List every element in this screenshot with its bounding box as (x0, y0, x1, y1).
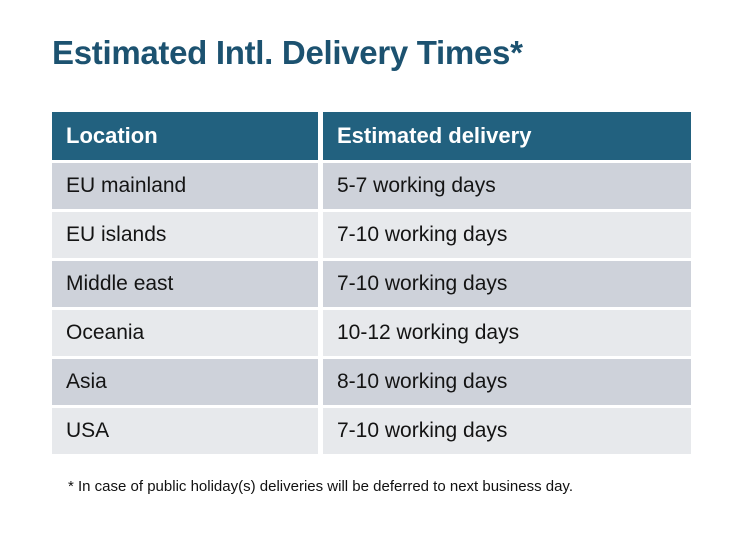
table-row: Oceania 10-12 working days (52, 310, 691, 356)
cell-location: Asia (52, 359, 318, 405)
delivery-times-page: Estimated Intl. Delivery Times* Location… (0, 0, 745, 536)
column-header-estimated-delivery: Estimated delivery (323, 112, 691, 160)
cell-delivery: 8-10 working days (323, 359, 691, 405)
cell-location: USA (52, 408, 318, 454)
cell-location: Oceania (52, 310, 318, 356)
cell-delivery: 7-10 working days (323, 212, 691, 258)
footnote-public-holiday: * In case of public holiday(s) deliverie… (68, 478, 573, 495)
cell-location: EU mainland (52, 163, 318, 209)
column-header-location: Location (52, 112, 318, 160)
table-row: EU islands 7-10 working days (52, 212, 691, 258)
cell-location: Middle east (52, 261, 318, 307)
table-row: Middle east 7-10 working days (52, 261, 691, 307)
cell-delivery: 5-7 working days (323, 163, 691, 209)
cell-location: EU islands (52, 212, 318, 258)
cell-delivery: 7-10 working days (323, 261, 691, 307)
estimated-delivery-times-table: Location Estimated delivery EU mainland … (52, 112, 691, 457)
table-header-row: Location Estimated delivery (52, 112, 691, 160)
table-row: Asia 8-10 working days (52, 359, 691, 405)
cell-delivery: 10-12 working days (323, 310, 691, 356)
table-row: EU mainland 5-7 working days (52, 163, 691, 209)
page-title: Estimated Intl. Delivery Times* (52, 34, 523, 72)
cell-delivery: 7-10 working days (323, 408, 691, 454)
table-row: USA 7-10 working days (52, 408, 691, 454)
